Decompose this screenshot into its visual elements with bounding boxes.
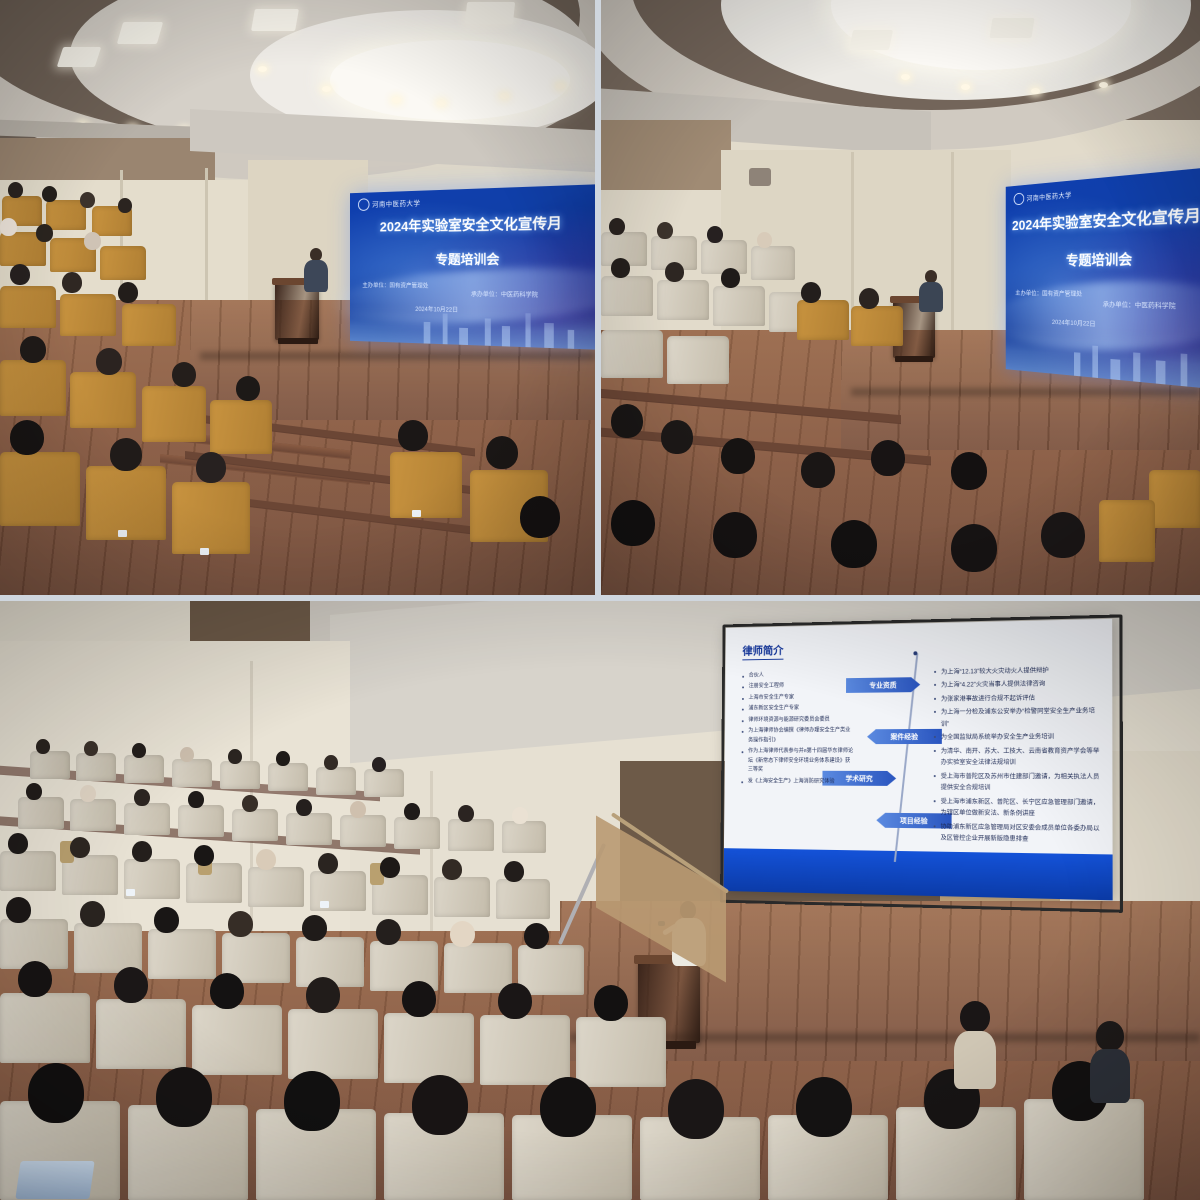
left-bullets: 合伙人注册安全工程师上海市安全生产专家浦东新区安全生产专家律师环境资源与能源研究… [741, 670, 856, 787]
led-screen: 河南中医药大学 2024年实验室安全文化宣传月 专题培训会 主办单位：国有资产管… [1006, 167, 1200, 388]
auditorium-scene-bottom: 律师简介 专业资质 案件经验 学术研究 项目经验 合伙人注册安全工程师上海市安全… [0, 601, 1200, 1200]
slide-logo-label: 河南中医药大学 [1027, 190, 1072, 203]
speaker-body [919, 282, 943, 312]
photo-panel-bottom: 律师简介 专业资质 案件经验 学术研究 项目经验 合伙人注册安全工程师上海市安全… [0, 601, 1200, 1200]
bullet-item: 受上海市浦东新区、普陀区、长宁区应急管理部门邀请，为辖区单位做新安法、新条例讲座 [934, 796, 1100, 821]
left-bullet-list: 合伙人注册安全工程师上海市安全生产专家浦东新区安全生产专家律师环境资源与能源研究… [741, 670, 856, 789]
downlight [392, 97, 401, 103]
bullet-item: 协助浦东新区应急管理局对区安委会成员单位各委办局以及区管控企业开展新版隐患排查 [934, 821, 1100, 847]
ceiling-panel-light [465, 2, 515, 24]
slide-organizer: 承办单位：中医药科学院 [471, 289, 538, 299]
bullet-item: 浦东新区安全生产专家 [742, 704, 856, 714]
auditorium-scene-top-right: 河南中医药大学 2024年实验室安全文化宣传月 专题培训会 主办单位：国有资产管… [601, 0, 1200, 595]
wall-seam [951, 152, 954, 337]
bullet-item: 上海市安全生产专家 [742, 693, 856, 703]
downlight [322, 86, 331, 92]
downlight [500, 93, 509, 99]
downlight [1031, 88, 1040, 94]
ceiling-panel-light [989, 18, 1034, 38]
ceiling-panel-light [57, 47, 101, 67]
slide-university-logo: 河南中医药大学 [358, 197, 420, 211]
auditorium-scene-top-left: 河南中医药大学 2024年实验室安全文化宣传月 专题培训会 主办单位：国有资产管… [0, 0, 595, 595]
led-screen: 河南中医药大学 2024年实验室安全文化宣传月 专题培训会 主办单位：国有资产管… [350, 184, 595, 349]
downlight [258, 66, 267, 72]
right-bullets: 为上海“12.13”较大火灾动火人提供辩护为上海“4.22”火灾当事人提供法律咨… [934, 664, 1100, 846]
content-slide-title: 律师简介 [742, 642, 783, 660]
podium-base [895, 356, 933, 362]
bullet-item: 为上海“12.13”较大火灾动火人提供辩护 [934, 664, 1100, 678]
slide-host: 主办单位：国有资产管理处 [1015, 287, 1082, 297]
bullet-item: 为上海律师协会编撰《律师办理安全生产类业务操作指引》 [742, 727, 856, 746]
podium-base [278, 338, 318, 344]
bullet-item: 律师环境资源与能源研究委员会委员 [742, 715, 856, 725]
bullet-item: 受上海市普陀区及苏州市住建部门邀请，为相关执法人员提供安全合规培训 [934, 771, 1100, 795]
seat-number-tag [200, 548, 209, 555]
university-seal-icon [1014, 192, 1025, 205]
slide-host: 主办单位：国有资产管理处 [362, 280, 428, 289]
photo-panel-top-right: 河南中医药大学 2024年实验室安全文化宣传月 专题培训会 主办单位：国有资产管… [601, 0, 1200, 595]
ceiling-panel-light [251, 9, 299, 31]
ceiling-panel-light [849, 30, 893, 50]
wall-seam [430, 771, 433, 941]
bullet-item: 为上海一分检及浦东公安举办“检警同堂安全生产业务培训” [934, 706, 1100, 730]
stage-edge-shadow [851, 388, 1200, 396]
wall-seam [205, 168, 208, 310]
wall-speaker [749, 168, 771, 186]
panel-divider-vertical [595, 0, 601, 601]
photo-panel-top-left: 河南中医药大学 2024年实验室安全文化宣传月 专题培训会 主办单位：国有资产管… [0, 0, 595, 595]
speaker-top-left [303, 248, 329, 292]
bullet-item: 发《上海安全生产》上海消防研究体验 [741, 777, 855, 787]
slide-logo-label: 河南中医药大学 [372, 198, 420, 209]
bullet-item: 作为上海律师代表参与并я第十四届华东律师论坛《新常态下律师安全环境业务体系建设》… [741, 747, 855, 775]
collage-canvas: 河南中医药大学 2024年实验室安全文化宣传月 专题培训会 主办单位：国有资产管… [0, 0, 1200, 1200]
seat-number-tag [412, 510, 421, 517]
slide-organizer: 承办单位：中医药科学院 [1103, 298, 1176, 310]
slide-subheading: 专题培训会 [350, 248, 595, 268]
bullet-item: 为全国监狱局系统举办安全生产业务培训 [934, 731, 1100, 743]
downlight [961, 84, 970, 90]
university-seal-icon [358, 198, 370, 211]
speaker-top-right [919, 270, 945, 312]
downlight [556, 83, 565, 89]
bullet-item: 为清华、南开、苏大、工技大、云南省教育资产学会等举办实验室安全法律法规培训 [934, 745, 1100, 769]
panel-divider-horizontal [0, 595, 1200, 601]
speaker-body [304, 260, 328, 292]
bullet-item: 注册安全工程师 [742, 681, 856, 692]
bullet-item: 为张家港事故进行合规不起诉评估 [934, 692, 1100, 705]
presentation-screen: 律师简介 专业资质 案件经验 学术研究 项目经验 合伙人注册安全工程师上海市安全… [724, 619, 1113, 901]
chevron-1: 案件经验 [867, 729, 942, 744]
bullet-item: 为上海“4.22”火灾当事人提供法律咨询 [934, 678, 1100, 692]
right-bullet-list: 为上海“12.13”较大火灾动火人提供辩护为上海“4.22”火灾当事人提供法律咨… [934, 664, 1100, 848]
chevron-0: 专业资质 [846, 677, 920, 693]
downlight [1099, 82, 1108, 88]
ceiling-center-light [330, 40, 570, 120]
upper-wall-band [601, 120, 731, 190]
downlight [437, 100, 446, 106]
laptop-screen [15, 1161, 94, 1199]
ceiling-panel-light [117, 22, 163, 44]
seat-number-tag [118, 530, 127, 537]
bullet-item: 合伙人 [742, 670, 856, 681]
downlight [901, 74, 910, 80]
